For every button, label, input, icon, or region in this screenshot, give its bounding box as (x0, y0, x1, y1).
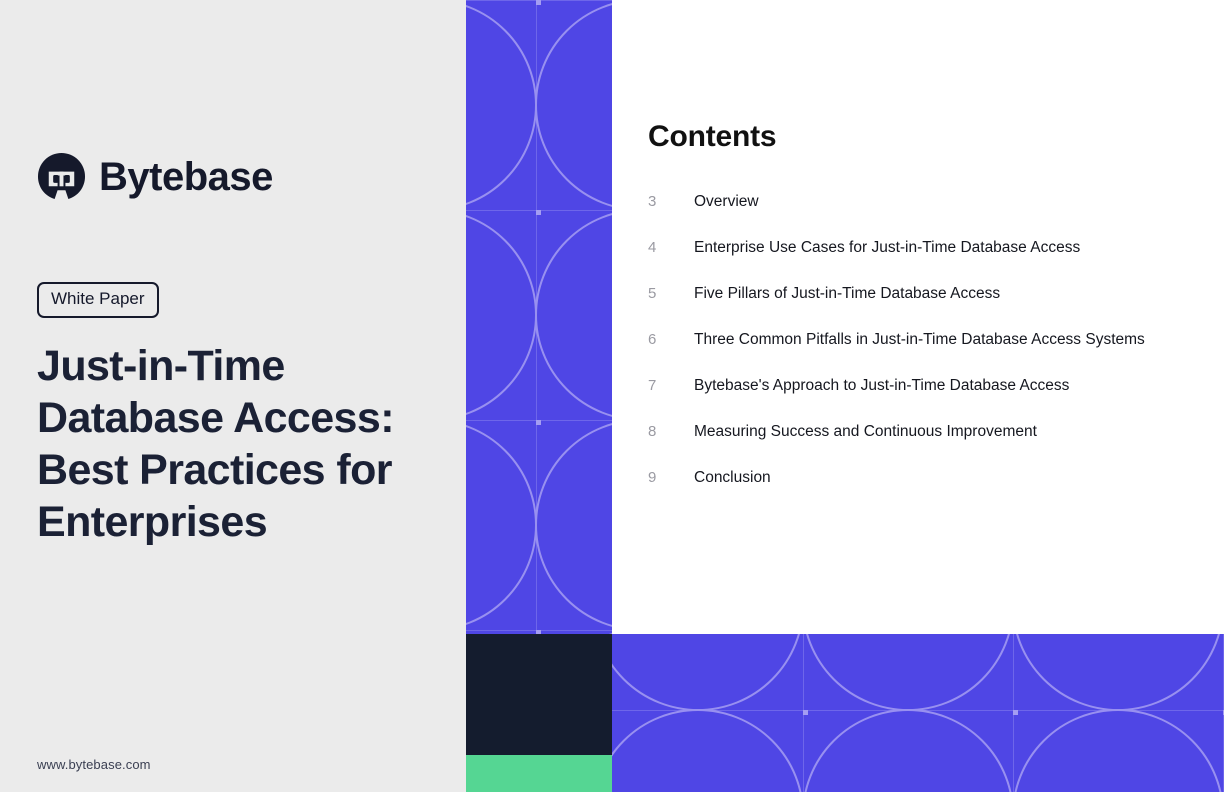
toc-page-number: 6 (648, 332, 694, 347)
decorative-dark-block (466, 634, 612, 755)
brand-wordmark: Bytebase (99, 157, 273, 197)
list-item[interactable]: 7 Bytebase's Approach to Just-in-Time Da… (648, 378, 1218, 424)
bytebase-owl-logo-icon (37, 152, 86, 201)
toc-entry-title: Conclusion (694, 470, 771, 486)
toc-page-number: 3 (648, 194, 694, 209)
toc-entry-title: Measuring Success and Continuous Improve… (694, 424, 1037, 440)
list-item[interactable]: 8 Measuring Success and Continuous Impro… (648, 424, 1218, 470)
list-item[interactable]: 6 Three Common Pitfalls in Just-in-Time … (648, 332, 1218, 378)
toc-page-number: 5 (648, 286, 694, 301)
toc-page-number: 9 (648, 470, 694, 485)
toc-entry-title: Three Common Pitfalls in Just-in-Time Da… (694, 332, 1145, 348)
decorative-green-block (466, 755, 612, 792)
decorative-purple-column (466, 0, 612, 634)
page-title: Just-in-Time Database Access: Best Pract… (37, 340, 417, 548)
contents-panel: Contents 3 Overview 4 Enterprise Use Cas… (612, 0, 1224, 634)
contents-heading: Contents (648, 120, 776, 154)
list-item[interactable]: 4 Enterprise Use Cases for Just-in-Time … (648, 240, 1218, 286)
toc-entry-title: Enterprise Use Cases for Just-in-Time Da… (694, 240, 1080, 256)
toc-page-number: 7 (648, 378, 694, 393)
toc-entry-title: Overview (694, 194, 759, 210)
toc-page-number: 4 (648, 240, 694, 255)
list-item[interactable]: 3 Overview (648, 194, 1218, 240)
list-item[interactable]: 9 Conclusion (648, 470, 1218, 516)
decorative-purple-bottom-band (612, 634, 1224, 792)
whitepaper-cover-page: Bytebase White Paper Just-in-Time Databa… (0, 0, 1224, 792)
white-paper-badge: White Paper (37, 282, 159, 318)
brand-logo: Bytebase (37, 152, 273, 201)
toc-entry-title: Bytebase's Approach to Just-in-Time Data… (694, 378, 1069, 394)
circle-grid-pattern-icon (612, 634, 1224, 792)
circle-grid-pattern-icon (466, 0, 612, 634)
toc-page-number: 8 (648, 424, 694, 439)
footer-website-url: www.bytebase.com (37, 757, 151, 772)
toc-entry-title: Five Pillars of Just-in-Time Database Ac… (694, 286, 1000, 302)
list-item[interactable]: 5 Five Pillars of Just-in-Time Database … (648, 286, 1218, 332)
contents-list: 3 Overview 4 Enterprise Use Cases for Ju… (648, 194, 1218, 516)
cover-left-panel: Bytebase White Paper Just-in-Time Databa… (0, 0, 466, 792)
